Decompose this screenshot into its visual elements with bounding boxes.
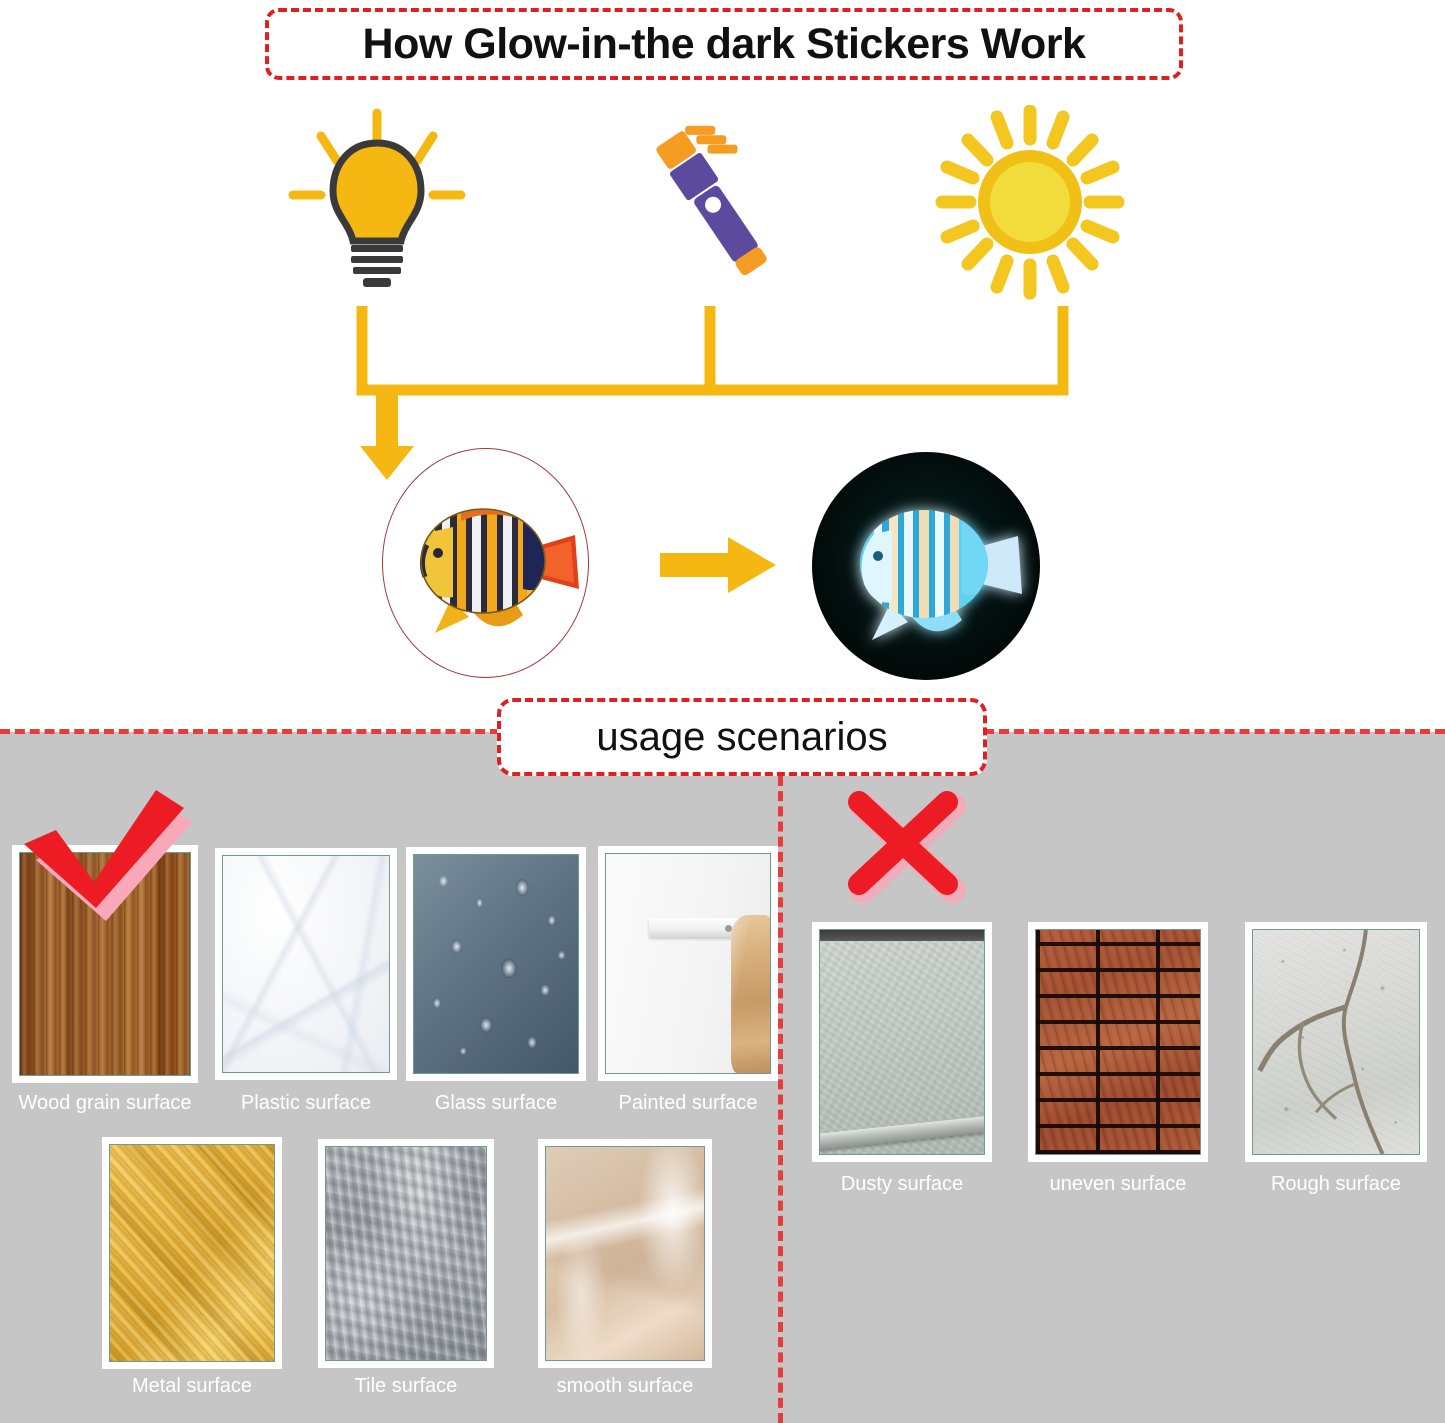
card-image-frame xyxy=(109,1144,275,1362)
crack-lines xyxy=(1253,930,1419,1154)
surface-card[interactable] xyxy=(1245,922,1427,1162)
wall-hook xyxy=(649,918,744,938)
usage-scenarios-banner: usage scenarios xyxy=(497,698,987,776)
infographic-canvas: How Glow-in-the dark Stickers Work xyxy=(0,0,1445,1423)
lightbulb-icon xyxy=(277,105,477,300)
surface-card[interactable] xyxy=(812,922,992,1162)
surface-card-label: smooth surface xyxy=(538,1375,712,1398)
texture-dusty xyxy=(820,930,984,1154)
light-source-flashlight xyxy=(595,105,825,300)
page-title: How Glow-in-the dark Stickers Work xyxy=(363,20,1086,69)
surface-card-label: Dusty surface xyxy=(812,1173,992,1196)
card-image-frame xyxy=(1035,929,1201,1155)
transformation-arrow xyxy=(660,535,778,595)
texture-smooth xyxy=(546,1147,704,1360)
fish-daylight-icon xyxy=(383,449,588,677)
surface-card-label: Metal surface xyxy=(102,1375,282,1398)
divider-line-vertical xyxy=(778,776,783,1423)
texture-painted xyxy=(606,854,770,1073)
light-source-row xyxy=(0,105,1445,300)
surface-card[interactable] xyxy=(406,847,586,1081)
light-source-lightbulb xyxy=(262,105,492,300)
card-image-frame xyxy=(819,929,985,1155)
divider-line-right xyxy=(984,729,1445,734)
texture-metal xyxy=(110,1145,274,1361)
wall-top-edge xyxy=(820,930,984,941)
surface-card-label: Rough surface xyxy=(1245,1173,1427,1196)
surface-card-label: Tile surface xyxy=(318,1375,494,1398)
light-to-sticker-connector xyxy=(330,300,1090,480)
surface-card[interactable] xyxy=(598,846,778,1081)
surface-card[interactable] xyxy=(318,1139,494,1368)
surface-card-label: uneven surface xyxy=(1028,1173,1208,1196)
texture-glass xyxy=(414,855,578,1073)
fish-daylight-circle xyxy=(382,448,589,678)
surface-card[interactable] xyxy=(1028,922,1208,1162)
title-banner: How Glow-in-the dark Stickers Work xyxy=(265,8,1183,80)
flashlight-icon xyxy=(610,105,810,300)
fish-glowing-icon xyxy=(812,452,1040,680)
down-arrow-icon xyxy=(360,390,414,480)
right-arrow-icon xyxy=(660,535,778,595)
card-image-frame xyxy=(605,853,771,1074)
usage-scenarios-label: usage scenarios xyxy=(596,715,887,760)
texture-tile xyxy=(326,1147,486,1360)
check-mark-icon xyxy=(14,786,204,921)
card-image-frame xyxy=(325,1146,487,1361)
surface-card-label: Painted surface xyxy=(598,1092,778,1115)
card-image-frame xyxy=(413,854,579,1074)
texture-plastic xyxy=(223,856,389,1072)
light-source-sun xyxy=(915,105,1145,300)
card-image-frame xyxy=(222,855,390,1073)
surface-card[interactable] xyxy=(538,1139,712,1368)
x-mark-icon xyxy=(845,788,975,908)
fish-glowing-circle xyxy=(812,452,1040,680)
wall-pipe xyxy=(819,1116,985,1150)
surface-card-label: Wood grain surface xyxy=(12,1092,198,1115)
texture-brick xyxy=(1036,930,1200,1154)
divider-line-left xyxy=(0,729,500,734)
sun-icon xyxy=(925,105,1135,300)
surface-card[interactable] xyxy=(215,848,397,1080)
texture-rough xyxy=(1253,930,1419,1154)
surface-card-label: Plastic surface xyxy=(215,1092,397,1115)
surface-card[interactable] xyxy=(102,1137,282,1369)
card-image-frame xyxy=(1252,929,1420,1155)
card-image-frame xyxy=(545,1146,705,1361)
hanging-towel xyxy=(731,915,771,1073)
surface-card-label: Glass surface xyxy=(406,1092,586,1115)
